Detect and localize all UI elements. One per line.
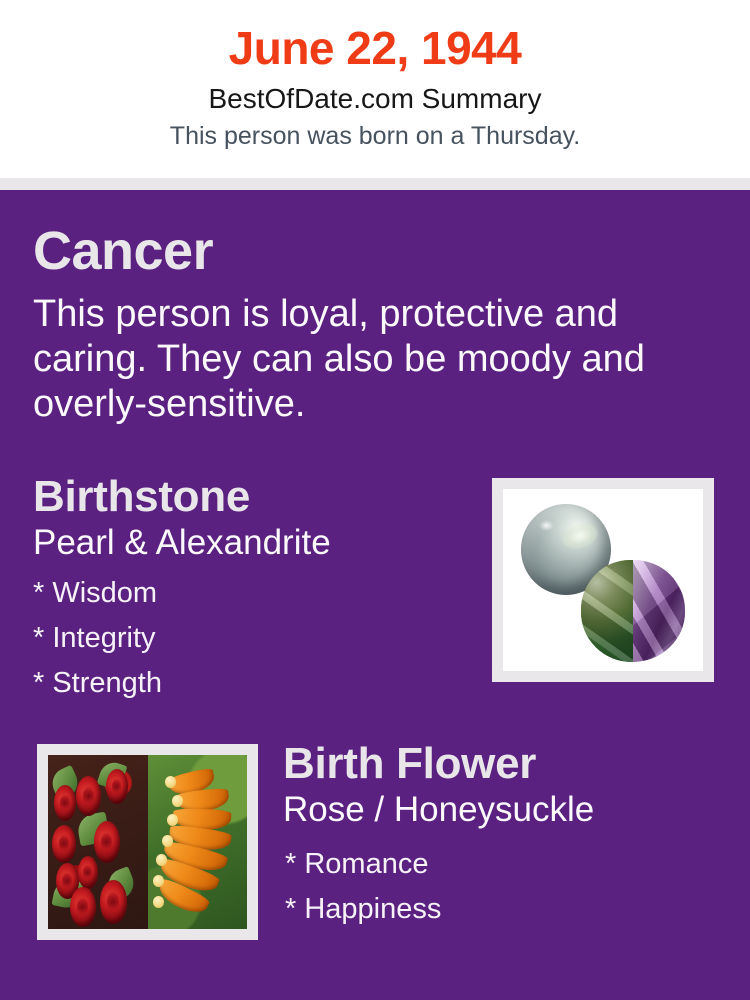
header-divider (0, 178, 750, 190)
honeysuckle-photo-half (148, 755, 248, 929)
honeysuckle-stamen (167, 814, 178, 826)
alexandrite-gem-graphic (581, 560, 685, 662)
birth-flower-trait-list: * Romance * Happiness (283, 830, 723, 932)
birth-flower-image (37, 744, 258, 940)
zodiac-section: Cancer This person is loyal, protective … (33, 222, 693, 427)
header: June 22, 1944 BestOfDate.com Summary Thi… (0, 0, 750, 178)
rose-bloom (94, 821, 120, 863)
list-item: * Romance (285, 842, 723, 887)
alexandrite-rough-half (581, 560, 633, 662)
roses-photo-half (48, 755, 148, 929)
zodiac-description: This person is loyal, protective and car… (33, 280, 658, 427)
birthstone-section: Birthstone Pearl & Alexandrite * Wisdom … (33, 473, 463, 706)
list-item: * Wisdom (33, 571, 463, 616)
rose-bloom (52, 825, 76, 863)
rose-bloom (100, 880, 127, 924)
alexandrite-faceted-half (633, 560, 685, 662)
rose-bloom (76, 776, 101, 816)
birthstone-trait-list: * Wisdom * Integrity * Strength (33, 563, 463, 706)
birthstone-names: Pearl & Alexandrite (33, 521, 463, 563)
birthstone-image (492, 478, 714, 682)
honeysuckle-stamen (153, 896, 164, 908)
birth-flower-title: Birth Flower (283, 740, 723, 788)
list-item: * Happiness (285, 887, 723, 932)
birth-flower-names: Rose / Honeysuckle (283, 788, 723, 830)
birth-flower-image-inner (48, 755, 247, 929)
pearl-highlight (539, 520, 554, 531)
list-item: * Strength (33, 661, 463, 706)
page-title: June 22, 1944 (0, 0, 750, 74)
rose-bloom (70, 887, 96, 927)
birth-flower-section: Birth Flower Rose / Honeysuckle * Romanc… (283, 740, 723, 932)
born-weekday-text: This person was born on a Thursday. (0, 116, 750, 152)
site-summary-label: BestOfDate.com Summary (0, 74, 750, 116)
birthstone-image-inner (503, 489, 703, 671)
summary-card: June 22, 1944 BestOfDate.com Summary Thi… (0, 0, 750, 1000)
zodiac-sign-name: Cancer (33, 222, 693, 280)
rose-bloom (106, 769, 128, 804)
birthstone-title: Birthstone (33, 473, 463, 521)
rose-bloom (54, 785, 76, 822)
details-panel: Cancer This person is loyal, protective … (0, 190, 750, 1000)
rose-bloom (78, 856, 98, 889)
list-item: * Integrity (33, 616, 463, 661)
